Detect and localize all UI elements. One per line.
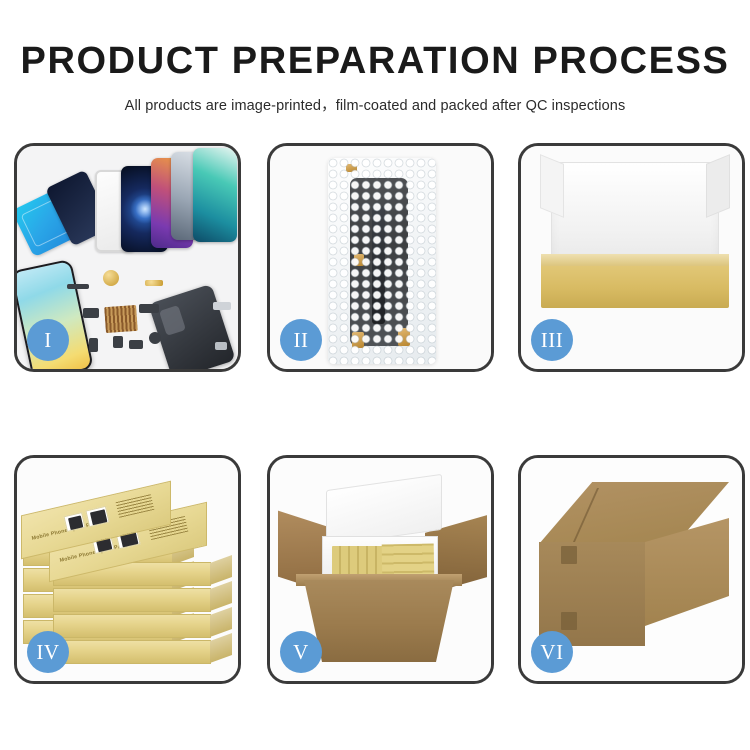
yellow-box-tray-icon (541, 264, 729, 308)
process-step-panel-4: Mobile Phone Spare Parts Mobile Phone Sp… (14, 455, 241, 684)
page-subtitle: All products are image-printed，film-coat… (0, 94, 750, 115)
process-step-panel-2: II (267, 143, 494, 372)
tweezers-tool-icon (213, 302, 231, 310)
sim-tray-part-icon (129, 340, 143, 349)
gold-coil-part-icon (103, 270, 119, 286)
teal-phone-icon (193, 148, 237, 242)
bubble-wrap-bag-icon (328, 158, 436, 364)
speaker-part-icon (67, 284, 89, 289)
stacked-box-f2 (53, 588, 211, 612)
step-badge-1: I (27, 319, 69, 361)
step-badge-2: II (280, 319, 322, 361)
process-step-panel-6: VI (518, 455, 745, 684)
process-step-panel-1: I (14, 143, 241, 372)
stacked-box-f3 (53, 614, 211, 638)
camera-module-part-icon (139, 304, 159, 313)
carton-tape-tab-upper-icon (561, 546, 577, 564)
infographic-page: PRODUCT PREPARATION PROCESS All products… (0, 0, 750, 750)
process-step-panel-3: III (518, 143, 745, 372)
screwdriver-tool-icon (215, 342, 227, 350)
step-badge-4: IV (27, 631, 69, 673)
circuit-chip-icon (104, 305, 138, 333)
carton-body-icon (304, 580, 454, 662)
page-title: PRODUCT PREPARATION PROCESS (0, 42, 750, 80)
step-badge-6: VI (531, 631, 573, 673)
small-screw-part-icon (89, 338, 98, 352)
carton-tape-tab-lower-icon (561, 612, 577, 630)
header: PRODUCT PREPARATION PROCESS All products… (0, 0, 750, 115)
phone-back-housing-icon (148, 284, 235, 369)
button-part-icon (113, 336, 123, 348)
step-badge-3: III (531, 319, 573, 361)
gold-connector-part-icon (145, 280, 163, 286)
bubble-texture-icon (328, 158, 436, 364)
flex-cable-part-icon (83, 308, 99, 318)
step-badge-5: V (280, 631, 322, 673)
process-step-panel-5: V (267, 455, 494, 684)
process-step-grid: I II I (14, 143, 745, 683)
stacked-box-f4 (53, 640, 211, 664)
vibrator-part-icon (149, 332, 161, 344)
